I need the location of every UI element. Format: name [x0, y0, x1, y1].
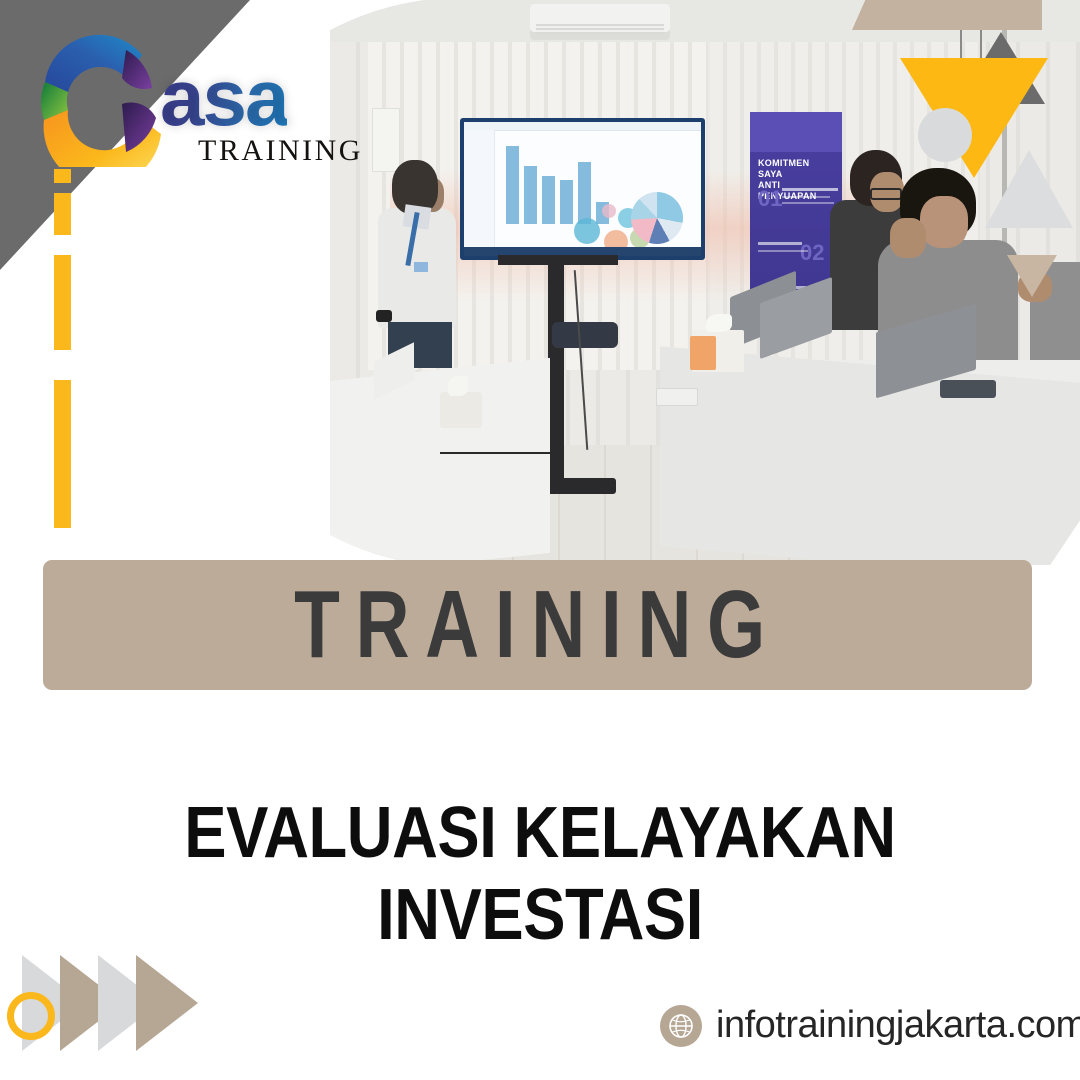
tissue-box-left	[440, 392, 482, 428]
gray-circle-icon	[918, 108, 972, 162]
training-label: TRAINING	[152, 560, 923, 690]
yellow-bar-2	[54, 193, 71, 235]
screen-sidebar	[464, 130, 495, 256]
banner-header	[750, 112, 842, 152]
wall-sign	[372, 108, 400, 172]
presenter-watch	[376, 310, 392, 322]
logo-wordmark: asa	[160, 60, 287, 136]
poster-canvas: KOMITMEN SAYA ANTI PENYUAPAN 01 02	[0, 0, 1080, 1080]
yellow-bar-3	[54, 255, 71, 350]
circular-swirl-logo-icon	[30, 22, 170, 167]
participant-1-arm	[890, 218, 926, 258]
banner-step-1: 01	[758, 186, 782, 212]
screen-stand-pole	[548, 260, 564, 490]
website-url: infotrainingjakarta.com	[716, 1004, 1080, 1047]
bag-on-table	[552, 322, 618, 348]
table-left	[330, 358, 550, 565]
floor-cable	[440, 452, 560, 454]
brand-logo: asa TRAINING	[30, 22, 360, 172]
banner-step-2: 02	[800, 240, 824, 266]
participant-1-glasses	[870, 188, 902, 200]
yellow-bar-1	[54, 169, 71, 183]
yellow-bar-4	[54, 380, 71, 528]
phone-on-table	[940, 380, 996, 398]
banner-rule-3	[782, 202, 834, 204]
page-title: EVALUASI KELAYAKAN INVESTASI	[65, 792, 1015, 956]
yellow-ring-icon	[7, 992, 55, 1040]
participant-2-face	[920, 196, 968, 248]
presenter-badge	[414, 262, 428, 272]
logo-subtitle: TRAINING	[198, 134, 363, 168]
globe-icon	[660, 1005, 702, 1047]
banner-rule-2	[782, 196, 830, 198]
wall-socket	[656, 388, 698, 406]
table-right	[660, 346, 1080, 565]
screen-pie-chart	[631, 192, 683, 244]
air-conditioner-icon	[530, 4, 670, 40]
tan-trapezoid	[852, 0, 1042, 30]
banner-rule-1	[782, 188, 838, 191]
banner-rule-4	[758, 242, 802, 245]
banner-rule-5	[758, 250, 808, 252]
website-footer[interactable]: infotrainingjakarta.com	[660, 1004, 1080, 1047]
tissue-box-right	[692, 330, 744, 372]
presentation-screen	[460, 118, 705, 260]
screen-toolbar	[464, 122, 701, 131]
chevron-4-icon	[136, 955, 198, 1051]
